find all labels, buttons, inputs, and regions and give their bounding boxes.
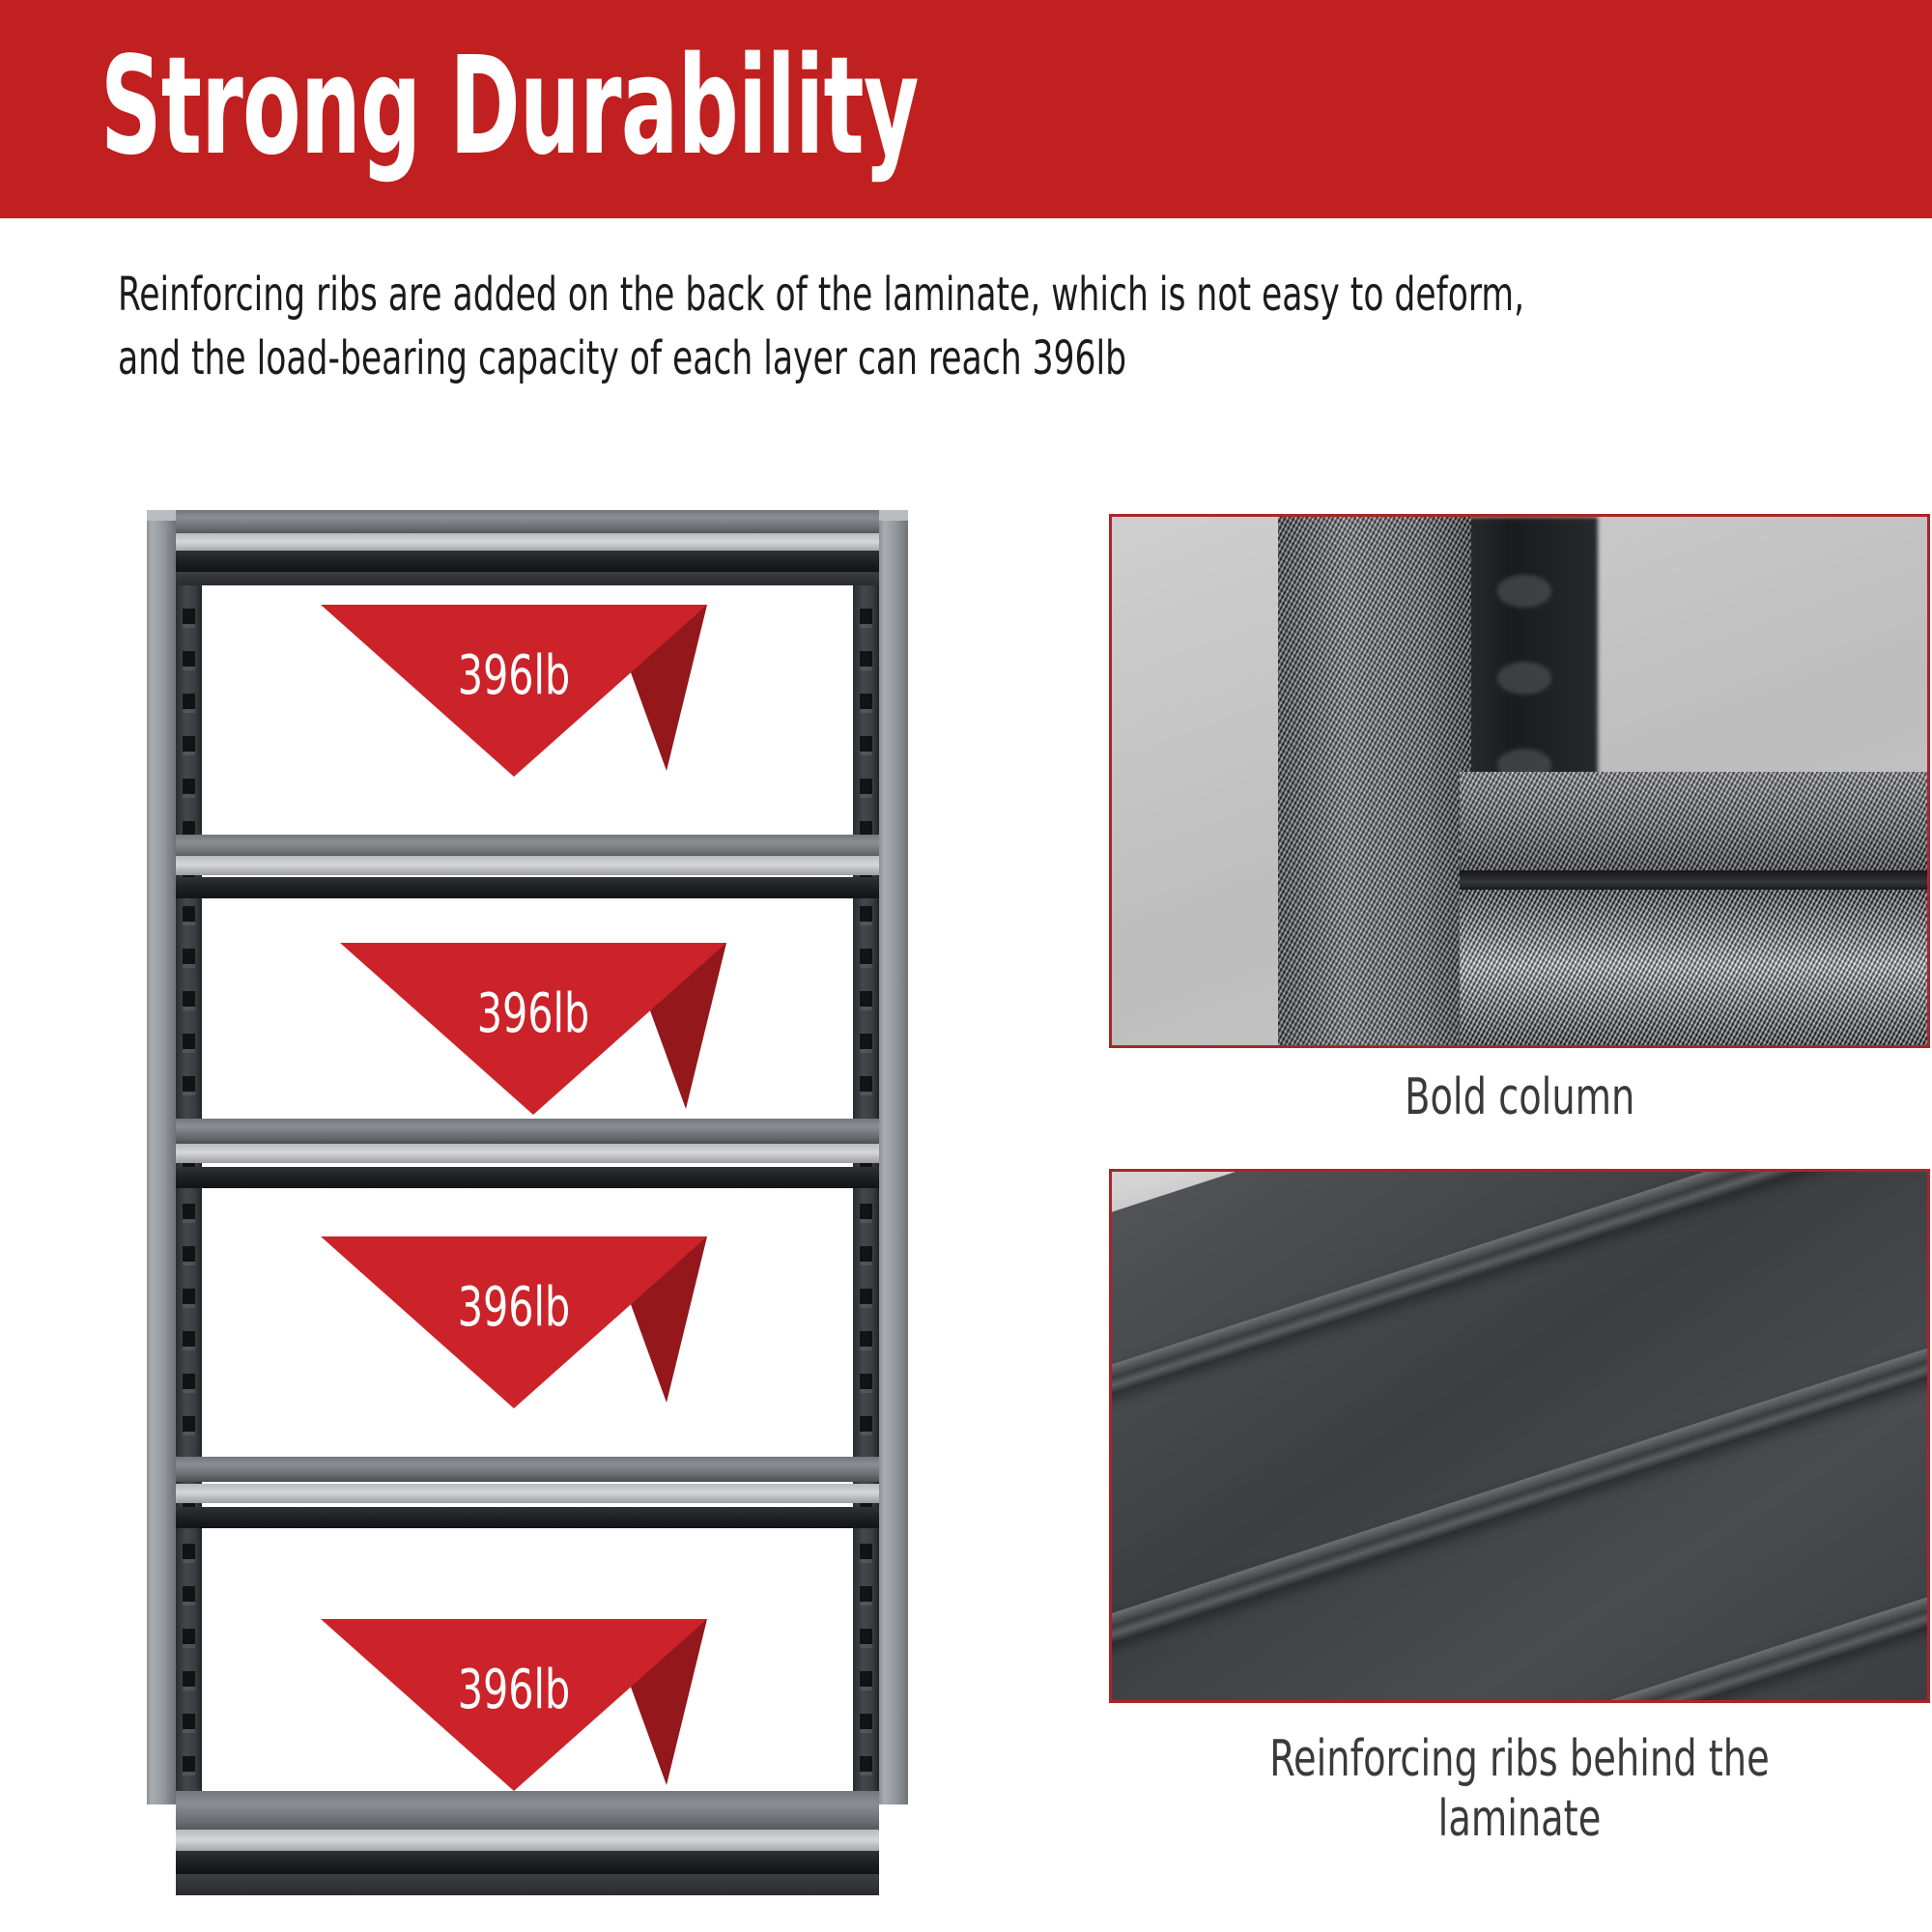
beam-shadow-face bbox=[176, 1167, 879, 1188]
caption-bold-column: Bold column bbox=[1109, 1067, 1930, 1127]
load-badge-2: 396lb bbox=[340, 943, 726, 1115]
post-outer-face bbox=[147, 510, 176, 1804]
header-banner: Strong Durability bbox=[0, 0, 1932, 218]
intro-line-1: Reinforcing ribs are added on the back o… bbox=[118, 263, 1509, 327]
beam-shadow-face bbox=[176, 551, 879, 572]
shelf-beam-2 bbox=[176, 835, 879, 904]
intro-line-2: and the load-bearing capacity of each la… bbox=[118, 327, 1509, 390]
beam-highlight bbox=[176, 533, 879, 553]
triangle-icon bbox=[340, 943, 726, 1115]
beam-lower-surface bbox=[1460, 890, 1927, 1048]
foreground-column bbox=[1278, 517, 1471, 1045]
beam-highlight bbox=[176, 856, 879, 875]
page-title: Strong Durability bbox=[100, 25, 1182, 189]
beam-top-strip bbox=[176, 510, 879, 535]
post-cap bbox=[147, 510, 176, 521]
infographic-page: Strong Durability Reinforcing ribs are a… bbox=[0, 0, 1932, 1932]
shelf-beam-4 bbox=[176, 1457, 879, 1540]
detail-photo-bold-column bbox=[1109, 514, 1930, 1048]
beam-front-lip bbox=[176, 572, 879, 585]
triangle-icon bbox=[321, 605, 707, 777]
beam-shadow-face bbox=[176, 877, 879, 898]
intro-paragraph: Reinforcing ribs are added on the back o… bbox=[118, 263, 1857, 390]
triangle-icon bbox=[321, 1619, 707, 1791]
post-outer-face bbox=[879, 510, 908, 1804]
shelving-unit-illustration: 396lb 396lb 396lb 396lb bbox=[147, 510, 908, 1804]
shelf-panel-underside bbox=[1109, 1169, 1930, 1703]
beam-highlight bbox=[176, 1830, 879, 1853]
beam-top-strip bbox=[176, 1119, 879, 1144]
load-badge-4: 396lb bbox=[321, 1619, 707, 1791]
beam-highlight bbox=[176, 1144, 879, 1163]
beam-upper-surface bbox=[1460, 772, 1927, 872]
shelf-beam-bottom bbox=[176, 1791, 879, 1905]
beam-seam bbox=[1460, 870, 1927, 892]
load-badge-3: 396lb bbox=[321, 1236, 707, 1408]
shelf-beam-3 bbox=[176, 1119, 879, 1202]
caption-reinforcing-ribs: Reinforcing ribs behind the laminate bbox=[1109, 1729, 1930, 1849]
base-front-lip bbox=[176, 1874, 879, 1895]
shelf-beam-top bbox=[176, 510, 879, 587]
beam-highlight bbox=[176, 1484, 879, 1503]
beam-top-strip bbox=[176, 1791, 879, 1833]
beam-shadow-face bbox=[176, 1851, 879, 1874]
beam-shadow-face bbox=[176, 1507, 879, 1528]
post-cap bbox=[879, 510, 908, 521]
triangle-icon bbox=[321, 1236, 707, 1408]
beam-top-strip bbox=[176, 1457, 879, 1482]
detail-photo-reinforcing-ribs bbox=[1109, 1169, 1930, 1703]
load-badge-1: 396lb bbox=[321, 605, 707, 777]
